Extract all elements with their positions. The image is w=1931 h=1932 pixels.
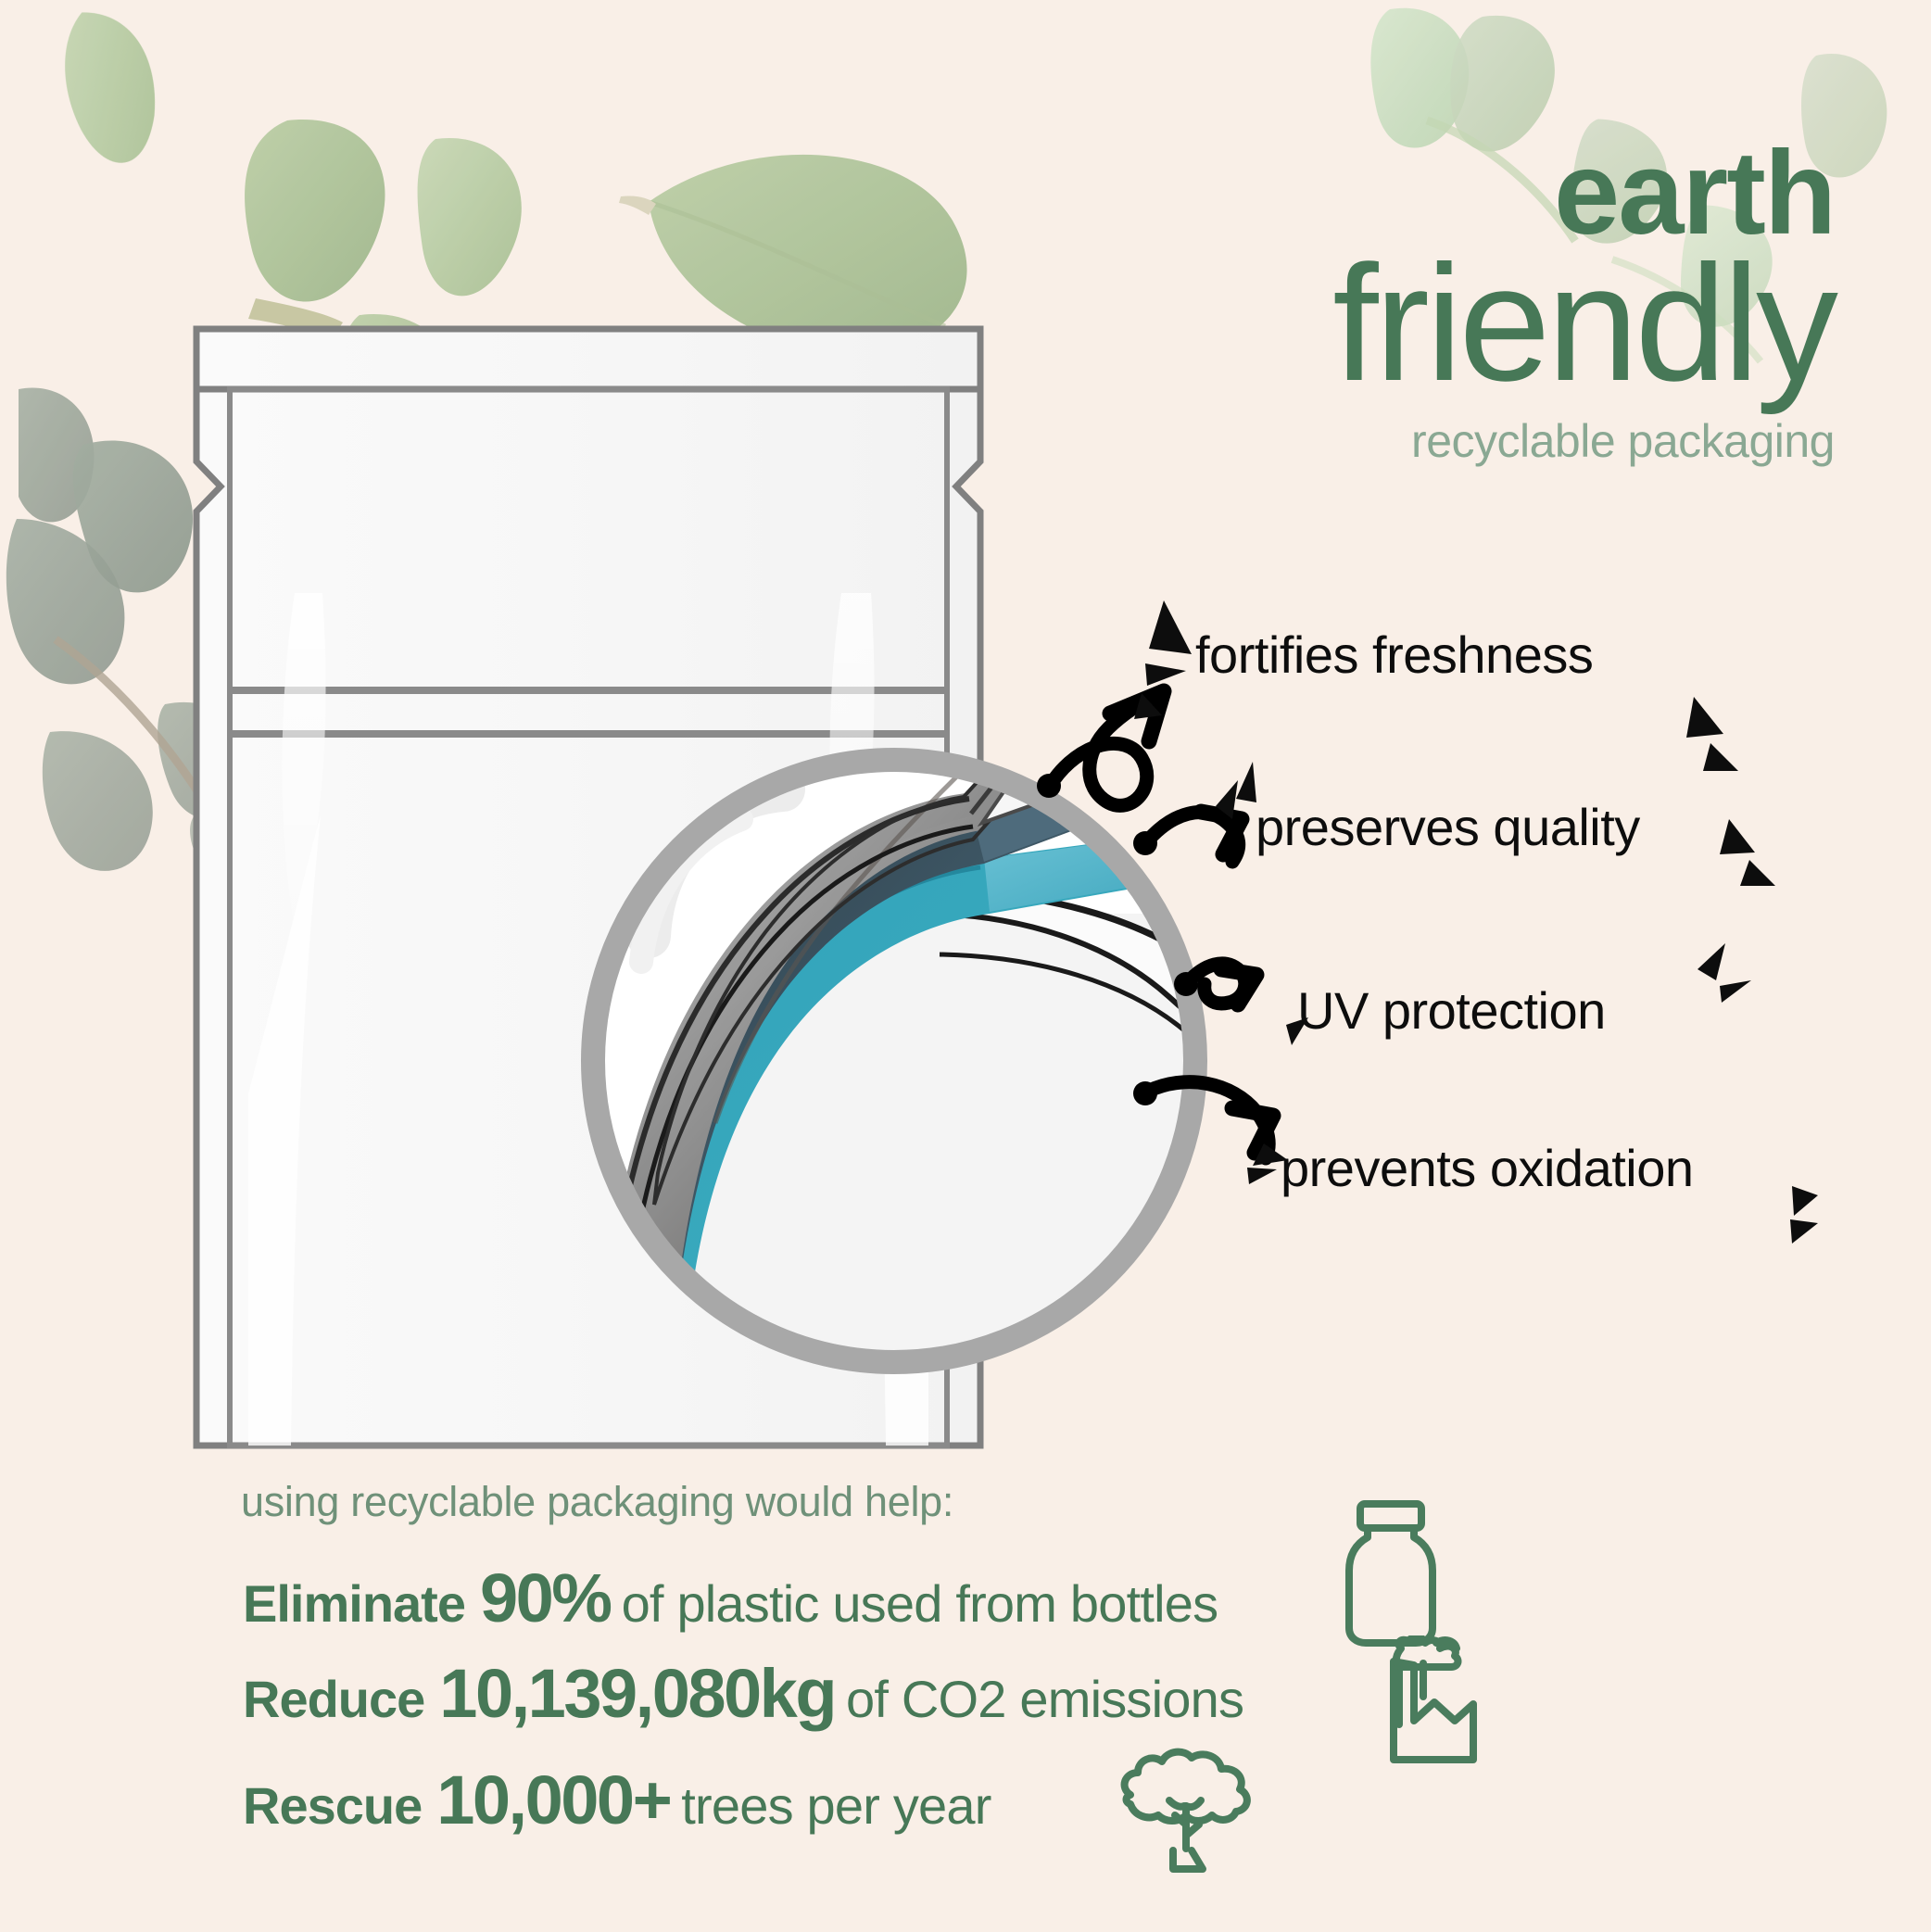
feature-label-prevents-oxidation: prevents oxidation	[1281, 1138, 1694, 1198]
headline-subtitle: recyclable packaging	[1093, 414, 1835, 468]
headline-block: earth friendly recyclable packaging	[1093, 139, 1835, 468]
stat-row-rescue: Rescue 10,000+ trees per year	[243, 1761, 991, 1839]
headline-line-2: friendly	[1093, 252, 1835, 394]
factory-icon	[1381, 1635, 1529, 1774]
stat-number: 10,139,080kg	[439, 1654, 835, 1733]
feature-label-preserves-quality: preserves quality	[1256, 797, 1640, 857]
stat-number: 10,000+	[436, 1761, 670, 1839]
stat-verb: Reduce	[243, 1669, 424, 1729]
stat-number: 90%	[480, 1559, 611, 1637]
feature-label-fortifies-freshness: fortifies freshness	[1195, 625, 1593, 685]
stat-verb: Rescue	[243, 1775, 422, 1836]
tree-icon	[1112, 1747, 1260, 1895]
stat-row-eliminate: Eliminate 90% of plastic used from bottl…	[243, 1559, 1218, 1637]
stat-tail: of CO2 emissions	[846, 1669, 1243, 1729]
stat-tail: of plastic used from bottles	[622, 1573, 1218, 1634]
feature-label-uv-protection: UV protection	[1297, 980, 1606, 1041]
stat-tail: trees per year	[681, 1775, 991, 1836]
stat-row-reduce: Reduce 10,139,080kg of CO2 emissions	[243, 1654, 1243, 1733]
bottle-icon	[1334, 1496, 1473, 1654]
stats-intro-text: using recyclable packaging would help:	[241, 1478, 953, 1526]
stat-verb: Eliminate	[243, 1573, 465, 1634]
infographic-canvas: earth friendly recyclable packaging fort…	[0, 0, 1931, 1932]
